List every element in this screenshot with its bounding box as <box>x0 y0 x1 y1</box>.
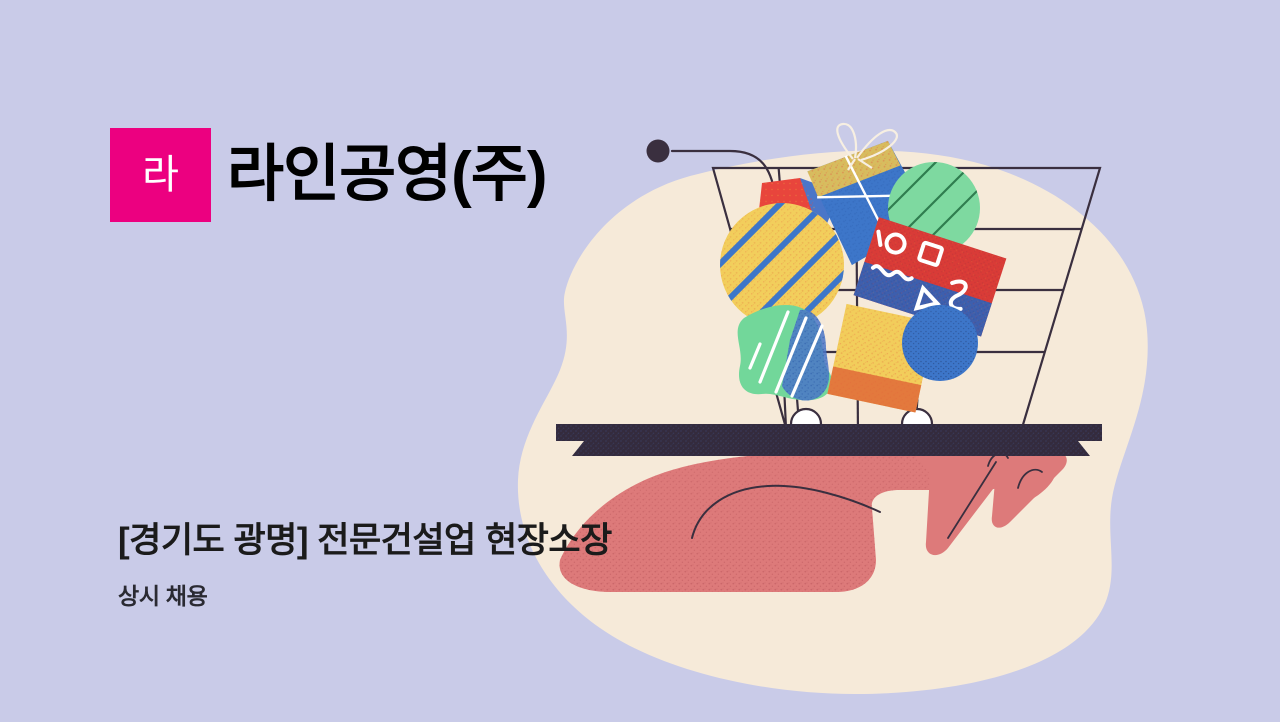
company-name: 라인공영(주) <box>227 144 547 206</box>
shopping-cart <box>672 151 1105 452</box>
item-green-striped-ball <box>880 148 984 262</box>
cart-basket-outline <box>713 168 1100 428</box>
finger-crease-2 <box>988 453 1008 466</box>
item-blue-speckled-ball <box>900 303 982 385</box>
hand-finger-3 <box>995 454 1056 508</box>
cart-leg <box>786 428 1008 452</box>
company-logo-badge: 라 <box>110 128 211 222</box>
job-title: [경기도 광명] 전문건설업 현장소장 <box>118 520 612 561</box>
hand-finger-1 <box>912 452 1011 555</box>
job-subtitle: 상시 채용 <box>118 583 208 611</box>
item-blue-gift-box <box>805 124 935 270</box>
hand <box>560 452 1067 592</box>
item-yellow-striped-ball <box>706 178 860 358</box>
background <box>0 0 1280 722</box>
cart-wheels <box>791 409 932 439</box>
cream-blob <box>518 151 1148 694</box>
cart-rails <box>705 229 1105 352</box>
platform-tray <box>556 424 1102 456</box>
platform-body <box>556 424 1102 456</box>
hand-finger-2 <box>986 452 1067 528</box>
cart-verticals <box>778 160 933 436</box>
item-red-blue-pattern-gift <box>854 217 1007 336</box>
item-red-blue-wrapped-gift <box>757 178 830 252</box>
cart-wheel-left <box>791 409 821 439</box>
company-logo-initial: 라 <box>142 155 179 195</box>
item-green-blue-blob-candy <box>738 305 832 401</box>
finger-crease-1 <box>948 462 996 538</box>
gift-bow <box>837 124 897 170</box>
cart-handle <box>672 151 786 428</box>
hand-palm <box>560 452 1020 592</box>
finger-crease-3 <box>1018 470 1042 488</box>
cart-wheel-right <box>902 409 932 439</box>
company-header: 라 라인공영(주) <box>110 127 547 222</box>
item-yellow-orange-square-gift <box>827 304 934 413</box>
platform-speckle <box>556 424 1102 456</box>
illustration-canvas <box>0 0 1280 722</box>
cart-handle-knob <box>647 140 670 163</box>
thumb-crease <box>692 486 880 538</box>
cart-items <box>706 124 1006 413</box>
job-posting-card: 라 라인공영(주) [경기도 광명] 전문건설업 현장소장 상시 채용 <box>0 0 1280 722</box>
